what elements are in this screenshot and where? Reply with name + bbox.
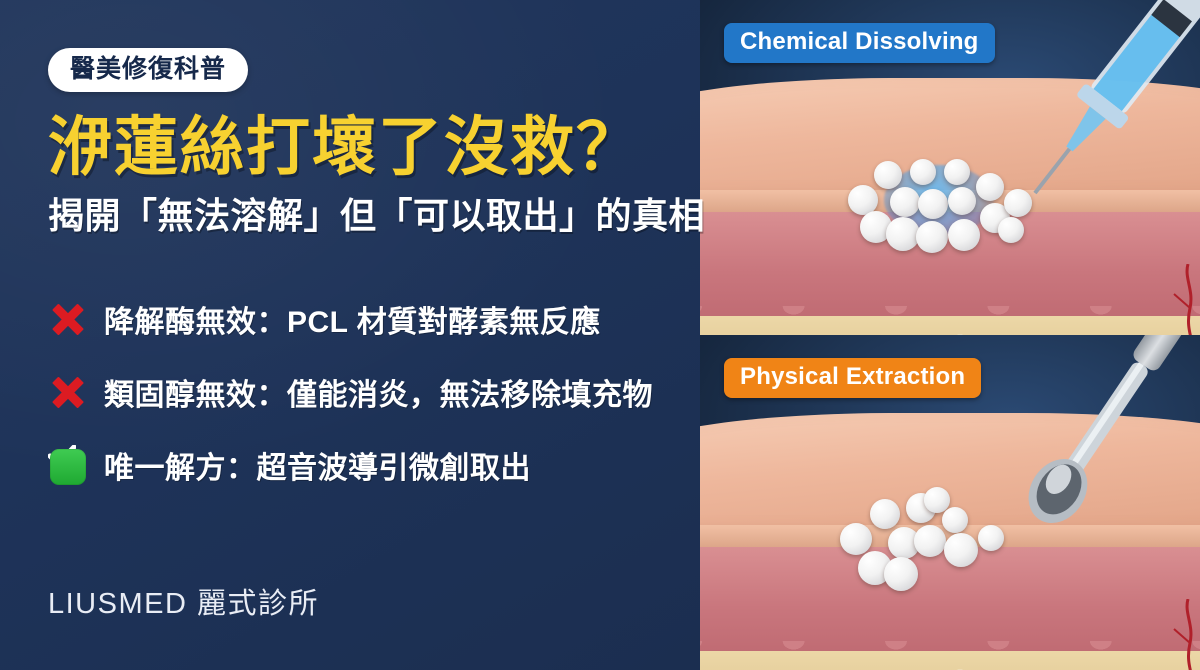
list-item: 類固醇無效：僅能消炎，無法移除填充物 bbox=[48, 372, 660, 412]
panel-label-chemical-dissolving: Chemical Dissolving bbox=[724, 23, 995, 63]
poster: 醫美修復科普 洢蓮絲打壞了沒救？ 揭開「無法溶解」但「可以取出」的真相 降解酶無… bbox=[0, 0, 1200, 670]
list-item: 唯一解方：超音波導引微創取出 bbox=[48, 445, 660, 485]
list-item-label: 降解酶無效：PCL 材質對酵素無反應 bbox=[104, 297, 601, 341]
cross-icon bbox=[48, 299, 88, 339]
blood-vessel-icon bbox=[1164, 264, 1200, 335]
page-subtitle: 揭開「無法溶解」但「可以取出」的真相 bbox=[48, 194, 660, 237]
bullet-list: 降解酶無效：PCL 材質對酵素無反應 類固醇無效：僅能消炎，無法移除填充物 唯一… bbox=[48, 299, 660, 485]
panel-label-physical-extraction: Physical Extraction bbox=[724, 358, 981, 398]
curette-tool-icon bbox=[962, 335, 1192, 577]
cross-icon bbox=[48, 372, 88, 412]
page-title: 洢蓮絲打壞了沒救？ bbox=[48, 114, 660, 182]
list-item-label: 唯一解方：超音波導引微創取出 bbox=[104, 443, 531, 487]
blood-vessel-icon bbox=[1164, 599, 1200, 670]
list-item-label: 類固醇無效：僅能消炎，無法移除填充物 bbox=[104, 370, 653, 414]
clinic-brand: LIUSMED 麗式診所 bbox=[48, 580, 319, 622]
left-content-panel: 醫美修復科普 洢蓮絲打壞了沒救？ 揭開「無法溶解」但「可以取出」的真相 降解酶無… bbox=[0, 0, 700, 670]
illustration-physical-extraction: Physical Extraction bbox=[700, 335, 1200, 670]
check-icon bbox=[48, 445, 88, 485]
syringe-icon bbox=[984, 0, 1200, 236]
illustration-chemical-dissolving: Chemical Dissolving bbox=[700, 0, 1200, 335]
category-badge: 醫美修復科普 bbox=[48, 48, 248, 92]
illustration-panel: Chemical Dissolving bbox=[700, 0, 1200, 670]
list-item: 降解酶無效：PCL 材質對酵素無反應 bbox=[48, 299, 660, 339]
